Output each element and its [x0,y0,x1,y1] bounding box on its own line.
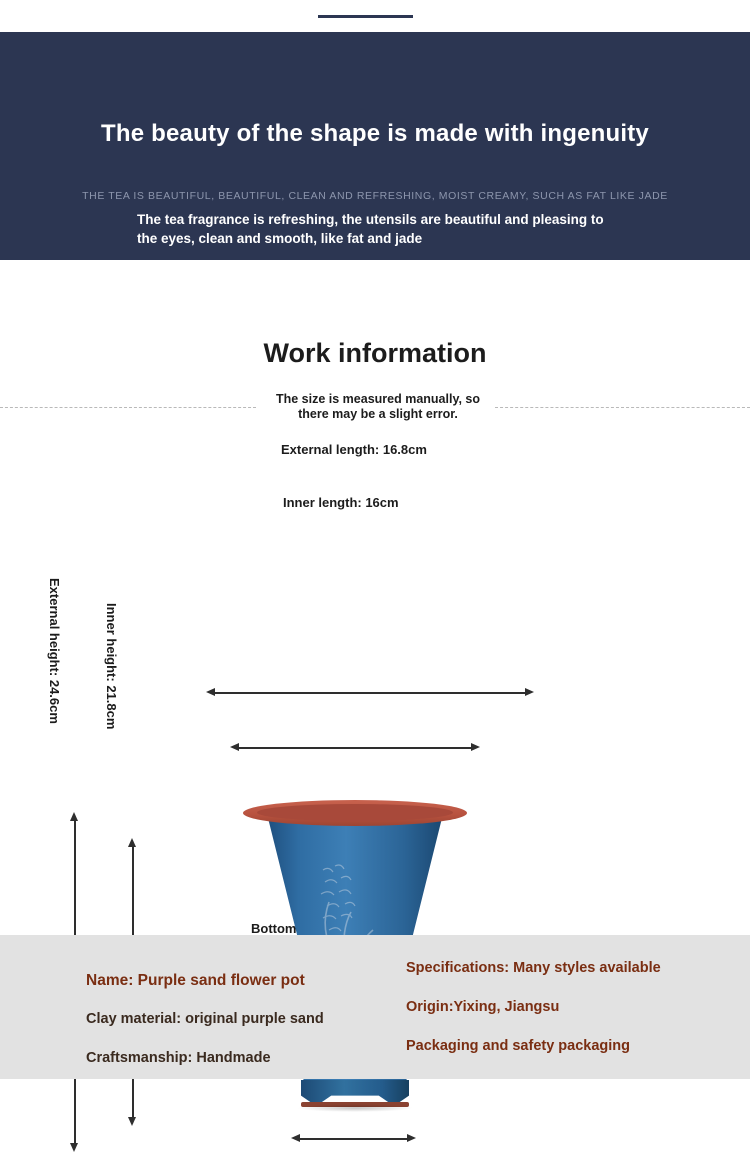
hero-subtitle: The tea fragrance is refreshing, the ute… [137,210,617,248]
spec-item-clay-material: Clay material: original purple sand [86,1010,386,1029]
external-height-label: External height: 24.6cm [47,578,62,724]
pot-shadow [297,1104,413,1112]
external-length-label: External length: 16.8cm [281,442,427,457]
spec-column-right: Specifications: Many styles available Or… [406,959,706,1076]
inner-length-arrow-icon [230,743,480,752]
specification-panel: Name: Purple sand flower pot Clay materi… [0,935,750,1079]
spec-item-packaging: Packaging and safety packaging [406,1037,706,1056]
hero-subtitle-caps: THE TEA IS BEAUTIFUL, BEAUTIFUL, CLEAN A… [0,190,750,202]
spec-item-specifications: Specifications: Many styles available [406,959,706,978]
spec-item-origin: Origin:Yixing, Jiangsu [406,998,706,1017]
hero-banner: The beauty of the shape is made with ing… [0,32,750,260]
tab-indicator [318,15,413,18]
work-information-section: Work information The size is measured ma… [0,260,750,935]
pot-rim-inner [257,804,453,821]
external-length-arrow-icon [206,688,534,697]
bottom-diameter-arrow-icon [291,1134,416,1143]
measurement-note: The size is measured manually, so there … [264,392,492,422]
spec-column-left: Name: Purple sand flower pot Clay materi… [86,971,386,1088]
inner-height-label: Inner height: 21.8cm [104,603,119,729]
top-strip [0,0,750,32]
divider-right [495,407,750,408]
spec-item-craftsmanship: Craftsmanship: Handmade [86,1049,386,1068]
hero-title: The beauty of the shape is made with ing… [0,120,750,148]
spec-item-name: Name: Purple sand flower pot [86,971,386,990]
inner-length-label: Inner length: 16cm [283,495,399,510]
divider-left [0,407,256,408]
section-title: Work information [0,338,750,369]
